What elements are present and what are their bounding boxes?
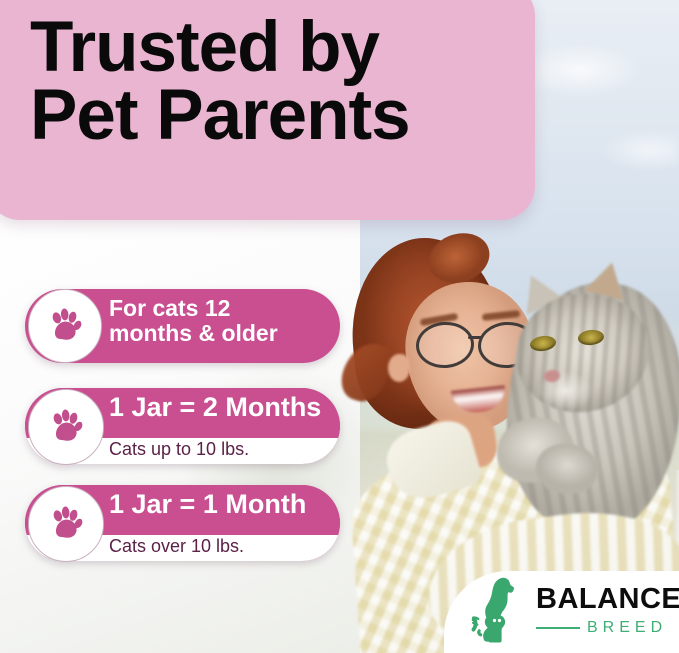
badge-main-text: For cats 12 months & older (109, 296, 278, 346)
badge-sub-text: Cats up to 10 lbs. (109, 440, 249, 458)
tagline-rule (536, 627, 580, 629)
promo-image-canvas: Trusted by Pet Parents For cats 12 month… (0, 0, 679, 653)
ear (388, 354, 410, 382)
paw-print-icon (28, 289, 102, 363)
paw-print-icon (28, 486, 104, 562)
paw-print-icon (28, 389, 104, 465)
brand-tagline: BREED (587, 620, 667, 636)
badge-age-requirement: For cats 12 months & older (25, 289, 340, 363)
lens-left (414, 320, 475, 370)
brand-name: BALANCED® (536, 585, 679, 614)
badge-text-group: For cats 12 months & older (109, 289, 330, 363)
brand-wordmark: BALANCED® BREED (536, 585, 679, 636)
cat-muzzle (526, 364, 604, 418)
badge-text-group: 1 Jar = 2 Months Cats up to 10 lbs. (109, 388, 330, 464)
headline-text: Trusted by Pet Parents (0, 0, 535, 220)
badge-main-text: 1 Jar = 1 Month (109, 490, 306, 519)
badge-main-text: 1 Jar = 2 Months (109, 393, 321, 422)
badge-sub-text: Cats over 10 lbs. (109, 537, 244, 555)
badge-jar-2-months: 1 Jar = 2 Months Cats up to 10 lbs. (25, 388, 340, 464)
badge-jar-1-month: 1 Jar = 1 Month Cats over 10 lbs. (25, 485, 340, 561)
brand-logo-panel: BALANCED® BREED (444, 571, 679, 653)
glasses-bridge (468, 336, 482, 339)
dog-and-cat-silhouette-icon (460, 575, 530, 649)
badge-text-group: 1 Jar = 1 Month Cats over 10 lbs. (109, 485, 330, 561)
brand-tagline-row: BREED (536, 620, 679, 636)
headline-banner: Trusted by Pet Parents (0, 0, 535, 220)
